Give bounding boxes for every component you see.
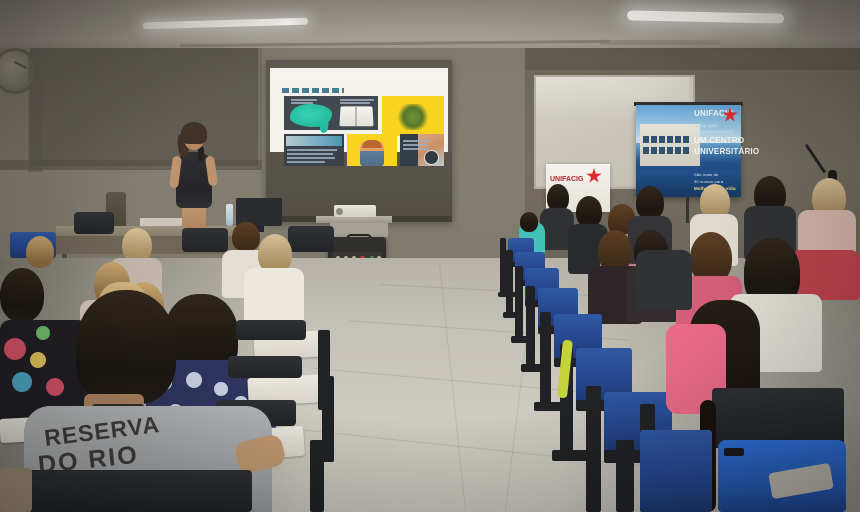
projector-cart-top [316,216,392,223]
banner-window [651,136,657,143]
audience-torso [244,268,304,324]
slide-caption-line [287,161,325,163]
chair-backrest[interactable] [182,228,228,252]
audience-head [0,268,44,322]
projector-lens-icon [336,208,343,215]
chair-backrest[interactable] [236,320,306,340]
banner-window [643,147,649,154]
backpack-label [724,448,744,456]
slide-caption-line [403,144,427,146]
chair-seat[interactable] [640,430,712,512]
audience-head [26,236,54,268]
slide-caption-line [340,102,370,104]
slide-plant-illustration [396,104,430,130]
presenter-legs [182,205,206,229]
floral-pattern [12,372,32,392]
chair-frame [540,312,551,408]
banner-window [643,136,649,143]
wall-right-top-trim [525,48,860,70]
slide-caption-line [287,149,337,151]
presenter-hair [181,122,207,144]
floral-pattern [46,378,64,396]
chair-backrest[interactable] [74,212,114,234]
papers-on-table [140,218,182,226]
slide-caption-line [403,148,429,150]
audience-head [76,290,176,404]
banner-window [667,147,673,154]
banner-small-brand-text: UNIFACIG [550,176,584,183]
wall-left-dark-panel [30,48,258,166]
chair-backrest[interactable] [28,470,252,512]
banner-window [659,147,665,154]
banner-headline2: UNIVERSITÁRIO [694,148,759,156]
chair-backrest[interactable] [712,388,844,448]
audience-torso [790,250,860,300]
banner-line1: MAIS QUE [696,124,717,128]
chair-backrest[interactable] [228,356,302,378]
chair-frame [526,286,535,370]
banner-footer2: 30 cursos para [694,180,723,184]
floral-pattern [4,338,26,360]
chair-frame [506,250,513,316]
banner-building-photo [640,124,700,166]
door-frame [28,52,42,172]
lecture-hall-photograph: UNIFACIG MAIS QUE UMA FACULDADE, UM CENT… [0,0,860,512]
banner-window [683,136,689,143]
banner-pole [686,197,689,223]
slide-title-text [282,88,344,93]
slide-caption-line [291,99,317,101]
chair-backrest[interactable] [288,226,334,252]
banner-window [675,136,681,143]
chair-frame [310,440,324,512]
banner-footer1: São mais de [694,173,718,177]
chair-frame [616,440,634,512]
banner-headline1: UM CENTRO [694,137,744,145]
chair-frame [515,266,523,340]
chair-frame [586,386,601,512]
slide-caption-line [403,140,429,142]
slide-water-illustration [286,136,342,146]
banner-window [675,147,681,154]
audience-head [520,212,538,232]
slide-caption-line [340,99,374,101]
slide-caption-line [287,153,333,155]
audience-head [232,222,260,252]
banner-window [659,136,665,143]
banner-line2: UMA FACULDADE, [696,130,735,134]
water-bottle [226,204,233,226]
banner-window [651,147,657,154]
slide-logo-icon [424,150,439,165]
slide-caption-line [287,157,335,159]
floral-pattern [36,326,50,340]
audience-arm [0,468,32,512]
chair-foot [552,450,588,461]
blouse-pattern [214,382,228,396]
floral-pattern [30,352,46,368]
audience-head [122,228,152,262]
banner-window [667,136,673,143]
audience-head [636,186,664,220]
audience-torso [636,250,692,310]
slide-person-hair [362,140,382,148]
ceiling-vent [600,40,720,45]
slide-book-spine [355,106,357,126]
blouse-pattern [186,372,202,388]
banner-window [683,147,689,154]
